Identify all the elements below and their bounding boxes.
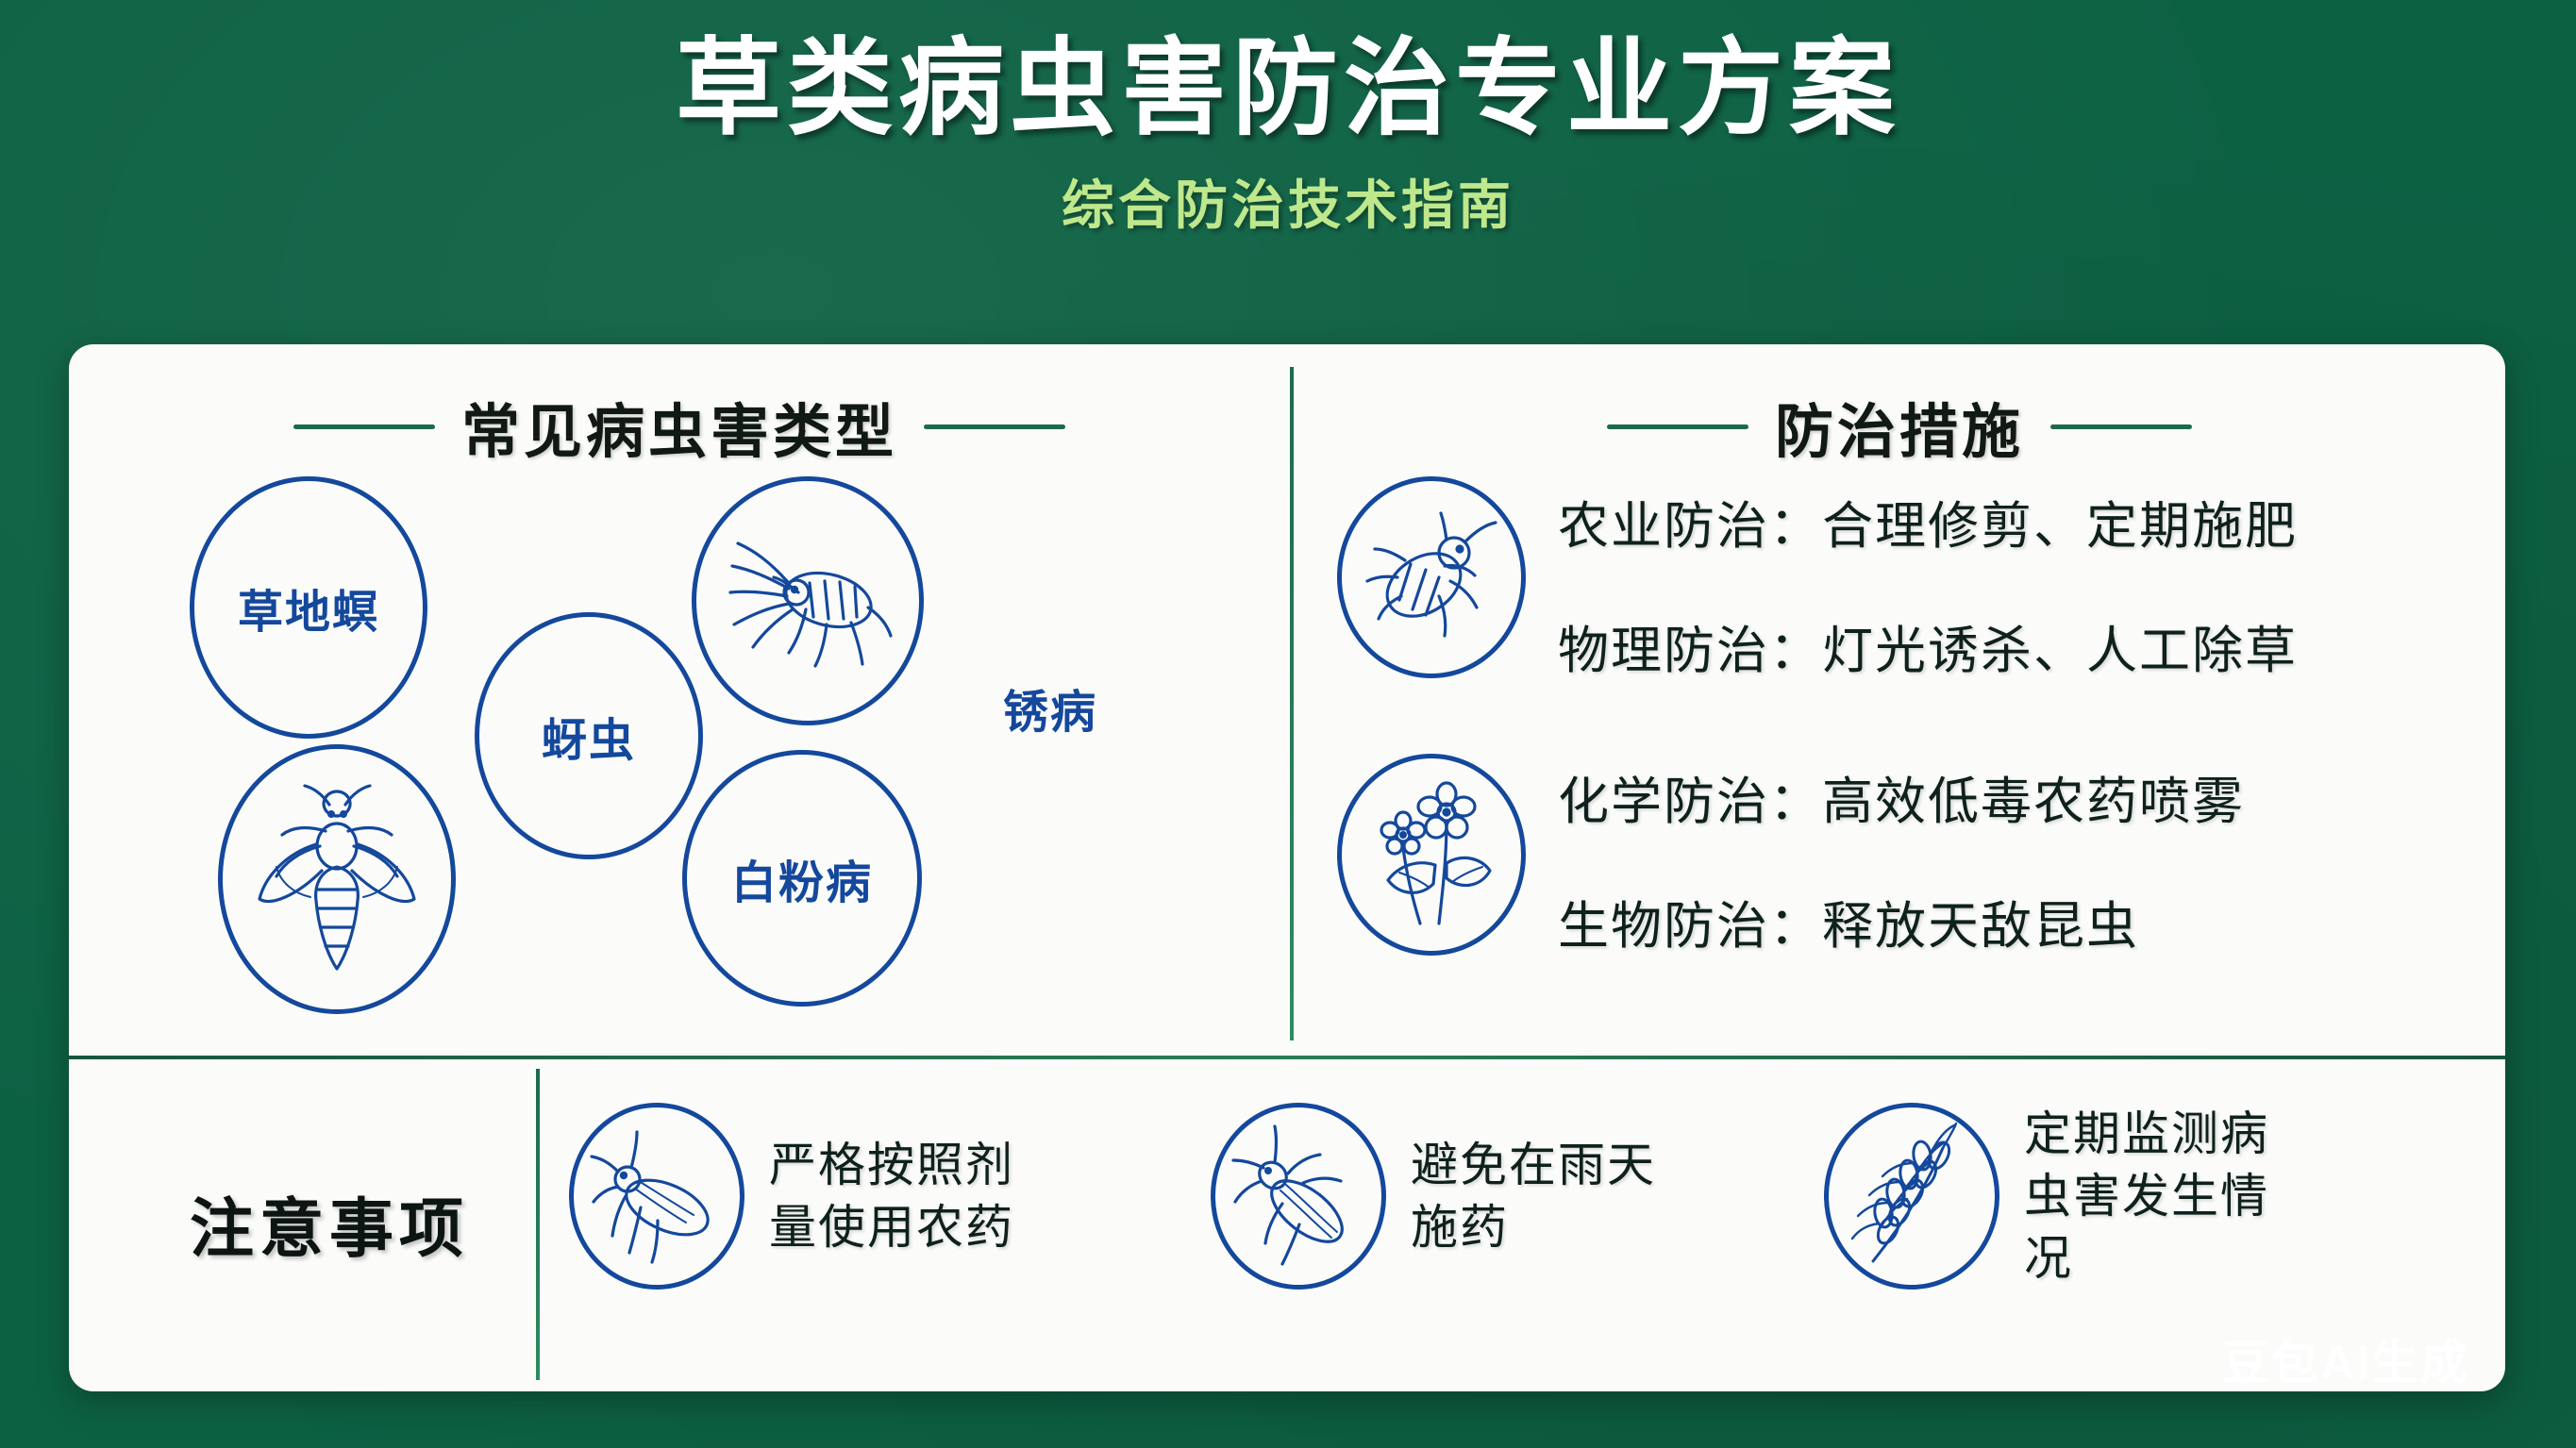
pest-bubble-label: 白粉病	[731, 845, 873, 911]
notes-section-title: 注意事项	[131, 1176, 527, 1270]
measure-line: 化学防治：高效低毒农药喷雾	[1558, 759, 2245, 834]
pest-label-rust: 锈病	[1003, 674, 1097, 741]
pest-bubble-bee[interactable]	[218, 744, 456, 1014]
note-item[interactable]: 严格按照剂量使用农药	[569, 1103, 1052, 1290]
panel-control-measures: 防治措施	[1294, 344, 2505, 1057]
note-text: 严格按照剂量使用农药	[769, 1134, 1052, 1258]
section-heading-pest-types: 常见病虫害类型	[69, 384, 1290, 469]
pest-bubble-label: 蚜虫	[542, 703, 636, 769]
page-subtitle: 综合防治技术指南	[0, 146, 2576, 240]
section-heading-label: 防治措施	[1775, 384, 2024, 469]
heading-rule-right	[2050, 424, 2192, 429]
locust-icon	[1228, 1121, 1369, 1272]
heading-rule-left	[1607, 424, 1748, 429]
note-icon-circle	[1824, 1103, 1999, 1290]
card-top-area: 常见病虫害类型 草地螟 蚜虫	[69, 344, 2505, 1057]
measure-line: 物理防治：灯光诱杀、人工除草	[1558, 608, 2298, 683]
pest-bubble-moth[interactable]: 草地螟	[190, 476, 427, 739]
aphid-icon	[1356, 498, 1507, 657]
note-text: 定期监测病虫害发生情况	[2024, 1103, 2307, 1290]
thrips-icon	[715, 502, 900, 700]
note-item[interactable]: 定期监测病虫害发生情况	[1824, 1103, 2307, 1290]
content-card: 常见病虫害类型 草地螟 蚜虫	[69, 344, 2505, 1391]
heading-rule-right	[924, 424, 1065, 429]
notes-list: 严格按照剂量使用农药	[560, 1086, 2503, 1369]
measure-line: 农业防治：合理修剪、定期施肥	[1558, 484, 2298, 558]
watermark: 豆包AI生成	[2222, 1325, 2469, 1393]
pest-bubble-aphid[interactable]: 蚜虫	[475, 612, 703, 859]
pest-bubble-label: 草地螟	[238, 574, 379, 641]
note-text: 避免在雨天施药	[1411, 1134, 1694, 1258]
page-header: 草类病虫害防治专业方案 综合防治技术指南	[0, 0, 2576, 240]
measures-list: 农业防治：合理修剪、定期施肥 物理防治：灯光诱杀、人工除草 化学防治：高效低毒农…	[1294, 465, 2505, 1050]
page-title: 草类病虫害防治专业方案	[0, 0, 2576, 146]
measure-line: 生物防治：释放天敌昆虫	[1558, 884, 2139, 958]
panel-pest-types: 常见病虫害类型 草地螟 蚜虫	[69, 344, 1290, 1057]
note-icon-circle	[1211, 1103, 1386, 1290]
pest-bubble-mildew[interactable]: 白粉病	[682, 750, 922, 1007]
note-icon-circle	[569, 1103, 744, 1290]
pest-bubble-thrips[interactable]	[692, 476, 924, 725]
measure-icon-aphid-circle	[1337, 476, 1526, 678]
measure-icon-flower-circle	[1337, 754, 1526, 956]
pest-bubble-cloud: 草地螟 蚜虫	[69, 467, 1290, 1052]
heading-rule-left	[293, 424, 435, 429]
section-heading-label: 常见病虫害类型	[461, 384, 897, 469]
card-bottom-area: 注意事项	[69, 1059, 2505, 1391]
flower-icon	[1356, 773, 1507, 937]
beetle-icon	[586, 1121, 728, 1272]
bee-icon	[243, 773, 431, 986]
wheat-icon	[1841, 1120, 1982, 1273]
vertical-divider-bottom	[536, 1069, 540, 1380]
section-heading-measures: 防治措施	[1294, 384, 2505, 469]
note-item[interactable]: 避免在雨天施药	[1211, 1103, 1694, 1290]
